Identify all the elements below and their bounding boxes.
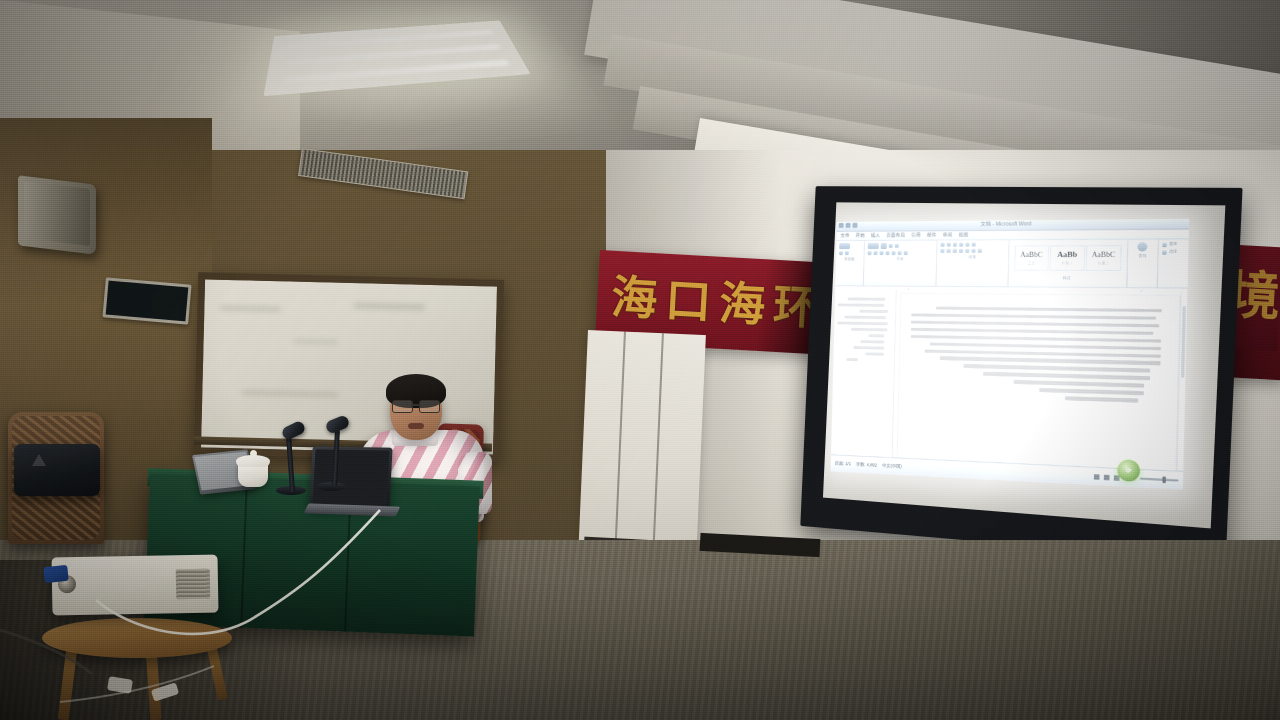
document-line	[936, 306, 1162, 312]
bullets-icon[interactable]	[940, 243, 944, 247]
style-preview-heading1: AaBb	[1057, 251, 1077, 259]
microphone-base	[316, 482, 346, 491]
find-icon[interactable]	[1138, 242, 1148, 252]
editing-find-label: 查找	[1139, 254, 1147, 259]
projector-vent	[176, 569, 211, 600]
grow-font-icon[interactable]	[888, 244, 892, 248]
nav-heading-item[interactable]	[853, 346, 885, 350]
projector	[52, 555, 219, 616]
presenter-mouth	[408, 423, 424, 429]
borders-icon[interactable]	[978, 249, 982, 253]
increase-indent-icon[interactable]	[965, 243, 969, 247]
nav-heading-item[interactable]	[851, 328, 887, 332]
nav-heading-item[interactable]	[859, 310, 888, 313]
laptop-screen[interactable]	[309, 446, 392, 509]
tab-review[interactable]: 审阅	[943, 232, 953, 238]
photo-scene: 海口海环院环 境	[0, 0, 1280, 720]
ribbon-group-clipboard[interactable]: 剪贴板	[835, 241, 864, 286]
numbering-icon[interactable]	[947, 243, 951, 247]
underline-icon[interactable]	[879, 251, 883, 255]
align-left-icon[interactable]	[940, 249, 944, 253]
subscript-icon[interactable]	[891, 251, 895, 255]
nav-heading-item[interactable]	[846, 358, 858, 361]
align-right-icon[interactable]	[953, 249, 957, 253]
document-line	[1014, 380, 1145, 387]
document-line	[911, 327, 1154, 335]
strikethrough-icon[interactable]	[885, 251, 889, 255]
nav-heading-item[interactable]	[848, 297, 886, 300]
document-line	[1039, 388, 1144, 395]
style-heading-1[interactable]: AaBb 标题 1	[1049, 245, 1084, 271]
document-line	[911, 334, 1162, 342]
projector-vga-plug	[43, 565, 69, 583]
projection-screen-frame: 文档 - Microsoft Word 文件 开始 插入 页面布局 引用 邮件 …	[800, 186, 1242, 563]
document-line	[930, 342, 1161, 350]
ribbon-group-styles[interactable]: AaBbC 正文 AaBb 标题 1 AaBbC 标题 2	[1008, 240, 1128, 287]
sort-icon[interactable]	[972, 242, 976, 246]
nav-heading-item[interactable]	[837, 321, 887, 325]
style-preview-heading2: AaBbC	[1092, 251, 1115, 259]
justify-icon[interactable]	[959, 249, 963, 253]
multilevel-list-icon[interactable]	[953, 243, 957, 247]
document-line	[1064, 397, 1138, 403]
nav-heading-item[interactable]	[865, 352, 885, 355]
editing-replace-label: 替换	[1169, 242, 1177, 247]
italic-icon[interactable]	[873, 251, 877, 255]
select-icon[interactable]	[1162, 250, 1167, 254]
ribbon[interactable]: 剪贴板 字体 段落	[835, 240, 1188, 289]
group-label-styles: 样式	[1012, 276, 1123, 282]
group-label-font: 字体	[867, 257, 933, 262]
nav-heading-item[interactable]	[861, 340, 885, 344]
nav-heading-item[interactable]	[838, 303, 885, 307]
text-color-icon[interactable]	[903, 251, 907, 255]
decrease-indent-icon[interactable]	[959, 243, 963, 247]
projected-word-window[interactable]: 文档 - Microsoft Word 文件 开始 插入 页面布局 引用 邮件 …	[831, 219, 1190, 490]
tab-page-layout[interactable]: 页面布局	[886, 233, 905, 239]
ribbon-group-font[interactable]: 字体	[864, 241, 938, 286]
scrollbar-thumb[interactable]	[1181, 306, 1186, 378]
navigation-pane[interactable]	[831, 289, 897, 458]
tab-references[interactable]: 引用	[911, 232, 921, 238]
wall-panel-doors	[578, 330, 705, 553]
font-size-box[interactable]	[880, 243, 886, 249]
ceiling-speaker	[18, 175, 96, 255]
ribbon-group-editing[interactable]: 查找	[1127, 240, 1159, 288]
quick-access-toolbar[interactable]	[839, 223, 858, 228]
laptop-bag	[14, 444, 100, 496]
teacup-knob	[250, 450, 257, 457]
ribbon-group-paragraph[interactable]: 段落	[936, 240, 1009, 286]
superscript-icon[interactable]	[897, 251, 901, 255]
document-line	[983, 372, 1149, 380]
word-title-bar: 文档 - Microsoft Word	[837, 219, 1190, 232]
nav-heading-item[interactable]	[868, 334, 885, 337]
style-name-heading1: 标题 1	[1062, 260, 1073, 265]
view-page-icon[interactable]	[1093, 474, 1099, 480]
document-line	[911, 320, 1159, 327]
ribbon-group-editing-extra[interactable]: 替换 选择	[1158, 240, 1189, 288]
word-title-text: 文档 - Microsoft Word	[980, 220, 1031, 228]
status-page: 页面: 1/1	[835, 460, 851, 467]
tab-home[interactable]: 开始	[856, 233, 865, 239]
word-body	[831, 289, 1187, 472]
view-reading-icon[interactable]	[1103, 474, 1109, 480]
shading-icon[interactable]	[971, 249, 975, 253]
glasses-icon	[392, 400, 440, 411]
shrink-font-icon[interactable]	[894, 244, 898, 248]
wall-control-panel[interactable]	[102, 277, 191, 324]
style-name-heading2: 标题 2	[1098, 260, 1109, 265]
align-center-icon[interactable]	[947, 249, 951, 253]
bold-icon[interactable]	[867, 251, 871, 255]
zoom-slider[interactable]	[1140, 478, 1179, 482]
paste-icon[interactable]	[839, 243, 850, 249]
group-label-paragraph: 段落	[940, 255, 1005, 260]
tab-file[interactable]: 文件	[840, 233, 849, 239]
nav-heading-item[interactable]	[844, 316, 887, 320]
save-icon[interactable]	[839, 223, 844, 228]
style-name-normal: 正文	[1028, 260, 1035, 265]
tab-view[interactable]: 视图	[959, 232, 969, 238]
replace-icon[interactable]	[1162, 242, 1167, 246]
status-words: 字数: 4,892	[856, 462, 877, 469]
copy-icon[interactable]	[845, 251, 849, 255]
document-line	[911, 313, 1156, 320]
undo-icon[interactable]	[846, 223, 851, 228]
font-name-box[interactable]	[867, 243, 878, 249]
editing-select-label: 选择	[1169, 249, 1177, 254]
style-preview-normal: AaBbC	[1020, 251, 1043, 258]
tab-insert[interactable]: 插入	[871, 233, 881, 239]
style-heading-2[interactable]: AaBbC 标题 2	[1085, 245, 1121, 271]
cut-icon[interactable]	[839, 251, 843, 255]
projection-screen-surface: 文档 - Microsoft Word 文件 开始 插入 页面布局 引用 邮件 …	[823, 202, 1225, 528]
group-label-clipboard: 剪贴板	[839, 257, 861, 262]
projection-screen: 文档 - Microsoft Word 文件 开始 插入 页面布局 引用 邮件 …	[800, 186, 1242, 563]
line-spacing-icon[interactable]	[965, 249, 969, 253]
tab-mailings[interactable]: 邮件	[927, 232, 937, 238]
status-language: 中文(中国)	[882, 463, 902, 470]
wooden-stool	[42, 618, 232, 658]
document-page[interactable]	[897, 293, 1181, 472]
redo-icon[interactable]	[852, 223, 857, 228]
style-normal[interactable]: AaBbC 正文	[1014, 245, 1049, 270]
